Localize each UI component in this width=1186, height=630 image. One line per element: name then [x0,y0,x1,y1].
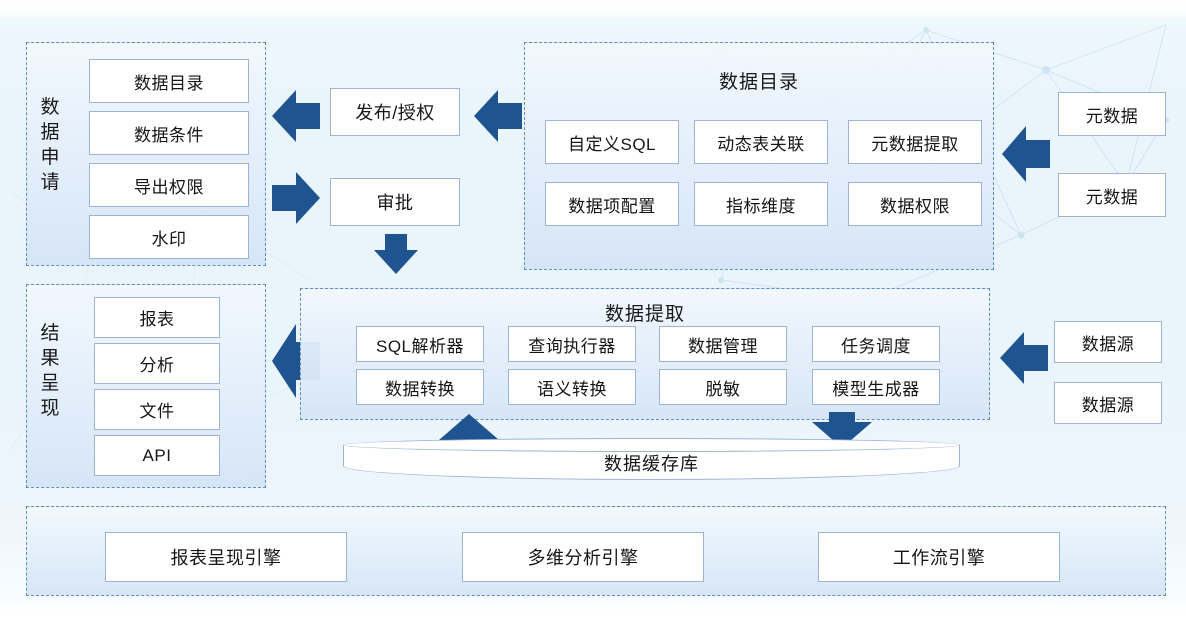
box-label: 数据转换 [385,375,455,400]
vlabel-char: 结 [33,321,67,346]
vlabel-char: 呈 [33,371,67,396]
box-label: 水印 [152,225,187,250]
engine-item-multidim-analysis[interactable]: 多维分析引擎 [462,532,704,582]
extraction-item-model-generator[interactable]: 模型生成器 [812,369,940,405]
result-item-file[interactable]: 文件 [94,389,220,430]
box-label: 工作流引擎 [893,544,986,570]
arrow-left-icon-datasource-to-extraction [1000,330,1048,386]
box-label: 多维分析引擎 [528,544,639,570]
box-label: SQL解析器 [376,332,464,357]
extraction-item-task-scheduling[interactable]: 任务调度 [812,326,940,362]
data-request-item-conditions[interactable]: 数据条件 [89,111,249,155]
box-label: 导出权限 [134,173,204,198]
data-request-panel-label: 数 据 申 请 [33,95,67,195]
data-request-item-watermark[interactable]: 水印 [89,215,249,259]
box-label: 任务调度 [841,332,911,357]
data-cache-store-label: 数据缓存库 [343,450,960,476]
catalog-item-metric-dimension[interactable]: 指标维度 [694,182,828,226]
box-label: 数据源 [1082,330,1135,355]
box-label: 数据管理 [688,332,758,357]
approval-box[interactable]: 审批 [330,178,460,226]
catalog-item-custom-sql[interactable]: 自定义SQL [545,120,679,164]
box-label: 数据目录 [134,69,204,94]
box-label: 分析 [140,351,175,376]
arrow-left-icon-catalog-to-publish [474,88,522,144]
box-label: 动态表关联 [717,130,805,155]
arrow-down-icon-approval-to-extraction [372,234,420,274]
data-catalog-panel-title: 数据目录 [525,67,993,94]
metadata-source-2[interactable]: 元数据 [1058,173,1166,217]
result-item-api[interactable]: API [94,435,220,476]
data-cache-store[interactable]: 数据缓存库 [343,438,960,480]
vlabel-char: 申 [33,145,67,170]
result-item-report[interactable]: 报表 [94,297,220,338]
extraction-item-query-executor[interactable]: 查询执行器 [508,326,636,362]
box-label: 元数据 [1086,102,1139,127]
box-label: 数据条件 [134,121,204,146]
data-source-1[interactable]: 数据源 [1054,321,1162,363]
box-label: 文件 [140,397,175,422]
catalog-item-data-permission[interactable]: 数据权限 [848,182,982,226]
result-item-analysis[interactable]: 分析 [94,343,220,384]
publish-authorize-box[interactable]: 发布/授权 [330,88,460,136]
box-label: API [143,446,172,466]
engine-item-workflow[interactable]: 工作流引擎 [818,532,1060,582]
box-label: 报表呈现引擎 [171,544,282,570]
data-request-item-export-permission[interactable]: 导出权限 [89,163,249,207]
architecture-diagram: 数 据 申 请 数据目录 数据条件 导出权限 水印 发布/授权 审批 [0,0,1186,630]
vlabel-char: 果 [33,346,67,371]
box-label: 发布/授权 [355,99,435,125]
vlabel-char: 现 [33,396,67,421]
box-label: 指标维度 [726,192,796,217]
box-label: 数据源 [1082,391,1135,416]
vlabel-char: 据 [33,120,67,145]
box-label: 数据权限 [880,192,950,217]
catalog-item-data-item-config[interactable]: 数据项配置 [545,182,679,226]
vlabel-char: 请 [33,170,67,195]
engine-item-report-rendering[interactable]: 报表呈现引擎 [105,532,347,582]
data-request-item-catalog[interactable]: 数据目录 [89,59,249,103]
box-label: 语义转换 [537,375,607,400]
extraction-item-data-transform[interactable]: 数据转换 [356,369,484,405]
box-label: 查询执行器 [528,332,616,357]
data-extraction-panel-title: 数据提取 [301,299,989,326]
result-presentation-panel-label: 结 果 呈 现 [33,321,67,421]
extraction-item-desensitization[interactable]: 脱敏 [659,369,787,405]
box-label: 脱敏 [706,375,741,400]
box-label: 报表 [140,305,175,330]
box-label: 数据项配置 [568,192,656,217]
box-label: 元数据提取 [871,130,959,155]
data-source-2[interactable]: 数据源 [1054,382,1162,424]
catalog-item-dynamic-table-join[interactable]: 动态表关联 [694,120,828,164]
vlabel-char: 数 [33,95,67,120]
box-label: 审批 [377,189,414,215]
box-label: 自定义SQL [568,130,656,155]
arrow-left-icon-catalog-to-request [272,88,320,144]
box-label: 元数据 [1086,183,1139,208]
arrow-left-icon-metadata-to-catalog [1002,124,1050,184]
extraction-item-data-management[interactable]: 数据管理 [659,326,787,362]
extraction-item-semantic-transform[interactable]: 语义转换 [508,369,636,405]
catalog-item-metadata-extraction[interactable]: 元数据提取 [848,120,982,164]
extraction-item-sql-parser[interactable]: SQL解析器 [356,326,484,362]
box-label: 模型生成器 [832,375,920,400]
arrow-right-icon-request-to-approval [272,170,320,226]
metadata-source-1[interactable]: 元数据 [1058,92,1166,136]
